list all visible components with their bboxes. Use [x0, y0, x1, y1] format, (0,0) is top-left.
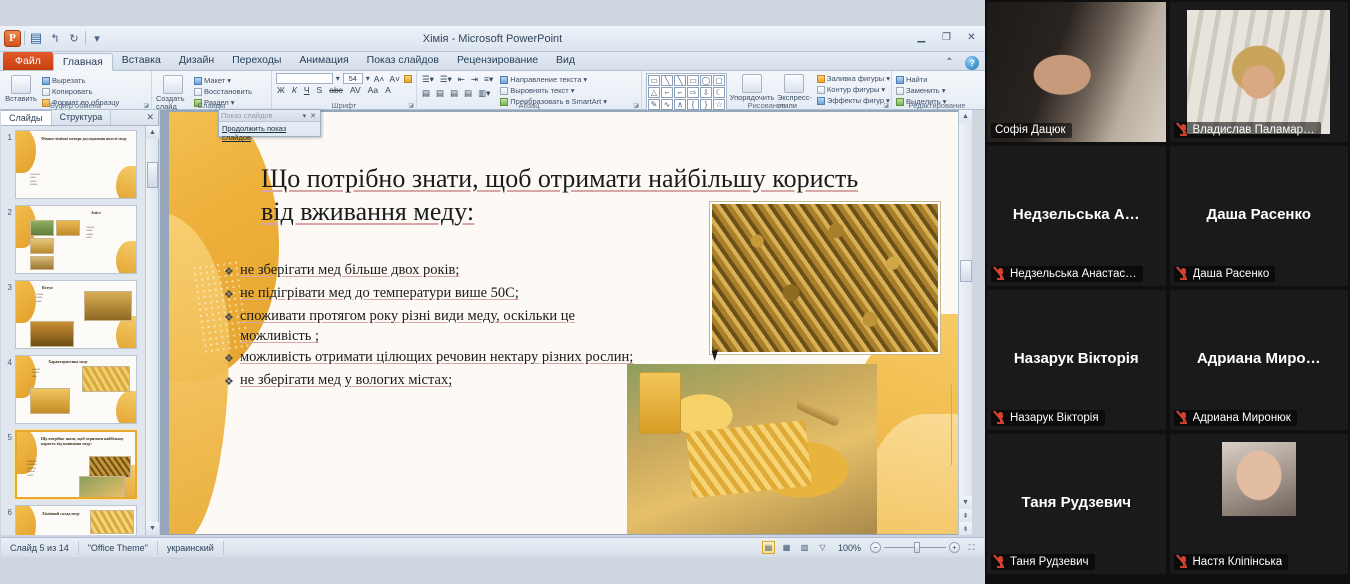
- shape-outline-label: Контур фигуры: [827, 85, 879, 94]
- list-item[interactable]: ❖ споживати протягом року різні види мед…: [224, 306, 644, 346]
- layout-button[interactable]: Макет▾: [194, 76, 252, 85]
- slide-counter[interactable]: Слайд 5 из 14: [1, 541, 79, 555]
- thumbnail-image: [89, 456, 131, 478]
- zoom-track[interactable]: [884, 547, 946, 548]
- participant-tile[interactable]: Недзельська А… Недзельська Анастас…: [987, 146, 1166, 286]
- tab-view[interactable]: Вид: [547, 52, 584, 70]
- cut-button[interactable]: Вырезать: [42, 76, 119, 85]
- shape-outline-icon: [817, 86, 825, 94]
- bullet-marker-icon: ❖: [224, 260, 240, 282]
- participant-name: Владислав Паламар…: [1193, 124, 1315, 136]
- participant-name-bar: Адриана Миронюк: [1174, 410, 1297, 426]
- participant-name-bar: Владислав Паламар…: [1174, 122, 1321, 138]
- slide-thumbnail-item[interactable]: 2 Зміст ••••••••••••••••••••••••••••••: [3, 205, 146, 274]
- bullet-marker-icon: ❖: [224, 306, 240, 328]
- thumbnail-image: [30, 238, 54, 254]
- line-spacing-button[interactable]: ≡▾: [483, 74, 494, 85]
- participant-name: Даша Расенко: [1193, 268, 1270, 280]
- avatar: [1222, 442, 1296, 516]
- copy-icon: [42, 88, 50, 96]
- participant-name-bar: Недзельська Анастас…: [991, 266, 1143, 282]
- scrollbar-thumb[interactable]: [147, 162, 158, 188]
- tab-design[interactable]: Дизайн: [170, 52, 223, 70]
- slide-thumbnail-item[interactable]: 3 Вступ •••••••••••••••••••••: [3, 280, 146, 349]
- align-text-icon: [500, 87, 508, 95]
- shape-fill-button[interactable]: Заливка фигуры▾: [817, 74, 890, 83]
- reset-button[interactable]: Восстановить: [194, 87, 252, 96]
- thumbnail-image: [84, 291, 132, 321]
- minimize-ribbon-icon[interactable]: ⌃: [940, 54, 959, 71]
- shape-arrow-icon[interactable]: ╲: [674, 75, 686, 86]
- group-label-clipboard: Буфер обмена: [0, 101, 151, 110]
- window-controls[interactable]: ▁ ❐ ✕: [912, 29, 981, 46]
- tab-file[interactable]: Файл: [3, 52, 53, 70]
- bullet-text: не зберігати мед більше двох років;: [240, 260, 644, 280]
- participant-video: [987, 2, 1166, 142]
- thumbnail-text: ••••••••••••••••••••••••••••••: [86, 226, 130, 240]
- bold-button[interactable]: Ж: [276, 85, 286, 95]
- thumbnail-image: [90, 510, 134, 534]
- slides-pane-scrollbar[interactable]: ▲ ▼: [145, 126, 158, 535]
- slide-thumbnail-selected[interactable]: Що потрібно знати, щоб отримати найбільш…: [15, 430, 137, 499]
- minimize-icon[interactable]: ▁: [912, 29, 931, 46]
- ribbon-group-slides: Создать слайд Макет▾ Восстановить: [152, 71, 272, 110]
- title-bar: P ▤ ↰ ↻ ▾ Хімія - Microsoft PowerPoint ▁…: [0, 26, 985, 52]
- reset-label: Восстановить: [204, 87, 252, 96]
- muted-microphone-icon: [1178, 411, 1189, 424]
- cut-label: Вырезать: [52, 76, 85, 85]
- theme-name[interactable]: "Office Theme": [79, 541, 158, 555]
- align-text-label: Выровнять текст: [510, 86, 568, 95]
- slide-sorter-icon[interactable]: ▦: [780, 541, 793, 554]
- shape-triangle-icon[interactable]: △: [648, 87, 660, 98]
- align-text-button[interactable]: Выровнять текст▾: [500, 86, 607, 95]
- status-bar-right[interactable]: ▤ ▦ ▧ ▽ 100% − + ⛶: [762, 541, 984, 554]
- participant-display-name: Назарук Вікторія: [987, 350, 1166, 367]
- participant-video: [1187, 10, 1330, 133]
- shape-block-arrow-icon[interactable]: ⇨: [687, 87, 699, 98]
- thumbnail-image: [30, 321, 74, 347]
- tab-home[interactable]: Главная: [53, 53, 113, 71]
- zoom-level-label[interactable]: 100%: [834, 543, 865, 553]
- participant-display-name: Недзельська А…: [987, 206, 1166, 223]
- honeycomb: [686, 420, 812, 498]
- participant-name: Недзельська Анастас…: [1010, 268, 1137, 280]
- list-item[interactable]: ❖ можливість отримати цілющих речовин не…: [224, 347, 644, 369]
- slide-thumbnail[interactable]: Фізико-хімічні методи дослідження якості…: [15, 130, 137, 199]
- bullet-text: можливість отримати цілющих речовин нект…: [240, 347, 644, 367]
- participant-tile[interactable]: Настя Кліпінська: [1170, 434, 1349, 574]
- shape-rounded-rect-icon[interactable]: ▢: [713, 75, 725, 86]
- thumbnail-image: [30, 388, 70, 414]
- layout-label: Макет: [204, 76, 225, 85]
- new-slide-icon: [163, 75, 183, 94]
- align-center-button[interactable]: ▤: [435, 88, 445, 99]
- align-left-button[interactable]: ▤: [421, 88, 431, 99]
- zoom-handle[interactable]: [914, 542, 920, 553]
- float-toolbar-header[interactable]: Показ слайдов ▾ ✕: [219, 110, 320, 122]
- font-name-dropdown-icon[interactable]: ▾: [336, 74, 340, 83]
- list-item[interactable]: ❖ не зберігати мед більше двох років;: [224, 260, 644, 282]
- ribbon-group-paragraph: ☰▾ ☰▾ ⇤ ⇥ ≡▾ ▤ ▤ ▤ ▤ ▥▾: [417, 71, 642, 110]
- thumbnail-image: [30, 220, 54, 236]
- align-right-button[interactable]: ▤: [449, 88, 459, 99]
- paste-icon: [11, 75, 31, 94]
- reading-view-icon[interactable]: ▧: [798, 541, 811, 554]
- help-icon[interactable]: ?: [965, 56, 979, 70]
- columns-button[interactable]: ▥▾: [477, 88, 491, 99]
- slide-number: 6: [3, 505, 15, 517]
- participant-name-bar: Даша Расенко: [1174, 266, 1276, 282]
- group-label-editing: Редактирование: [892, 101, 982, 110]
- scroll-up-icon[interactable]: ▲: [146, 126, 159, 139]
- honey-jar-and-honeycomb-photo[interactable]: [627, 364, 877, 534]
- shape-outline-button[interactable]: Контур фигуры▾: [817, 85, 890, 94]
- thumbnail-text: ••••••••••••••••••••••: [32, 368, 74, 378]
- font-size-input[interactable]: 54: [343, 73, 363, 84]
- restore-icon[interactable]: ❐: [937, 29, 956, 46]
- participant-tile[interactable]: Софія Дацюк: [987, 2, 1166, 142]
- scrollbar-thumb[interactable]: [960, 260, 972, 282]
- bullet-text: споживати протягом року різні види меду,…: [240, 306, 644, 346]
- participant-name: Таня Рудзевич: [1010, 556, 1089, 568]
- group-label-drawing: Рисование: [642, 101, 891, 110]
- pane-splitter-handle[interactable]: [951, 385, 956, 425]
- thumbnail-title: Що потрібно знати, щоб отримати найбільш…: [41, 436, 127, 446]
- slide-editing-area[interactable]: Що потрібно знати, щоб отримати найбільш…: [160, 110, 972, 535]
- previous-slide-icon[interactable]: ⇞: [959, 509, 972, 522]
- replace-button[interactable]: Заменить▾: [896, 86, 978, 95]
- character-spacing-button[interactable]: AV: [349, 85, 362, 95]
- tab-review[interactable]: Рецензирование: [448, 52, 547, 70]
- slide-number: 1: [3, 130, 15, 142]
- bullet-marker-icon: ❖: [224, 283, 240, 305]
- slide-thumbnail[interactable]: Зміст ••••••••••••••••••••••••••••••: [15, 205, 137, 274]
- slide-thumbnail-item[interactable]: 1 Фізико-хімічні методи дослідження якос…: [3, 130, 146, 199]
- shape-elbow2-icon[interactable]: ⌐: [674, 87, 686, 98]
- slide-number: 5: [3, 430, 15, 442]
- participant-tile[interactable]: Таня Рудзевич Таня Рудзевич: [987, 434, 1166, 574]
- reset-icon: [194, 88, 202, 96]
- underline-button[interactable]: Ч: [303, 85, 311, 95]
- participant-name: Софія Дацюк: [995, 124, 1066, 136]
- language-indicator[interactable]: украинский: [158, 541, 224, 555]
- continue-slideshow-button[interactable]: Продолжить показ слайдов: [219, 122, 320, 144]
- current-slide[interactable]: Що потрібно знати, щоб отримати найбільш…: [169, 112, 961, 534]
- bullet-marker-icon: ❖: [224, 347, 240, 369]
- muted-microphone-icon: [1178, 267, 1189, 280]
- font-dialog-launcher[interactable]: ◪: [408, 102, 414, 109]
- ribbon-group-drawing: ▭ ╲ ╲ ▭ ◯ ▢ △ ⌐ ⌐ ⇨ ⇩ ☾ ✎ ∿ ∧: [642, 71, 892, 110]
- slide-thumbnail[interactable]: Характеристика меду ••••••••••••••••••••…: [15, 355, 137, 424]
- increase-font-size-button[interactable]: A˄: [373, 74, 386, 84]
- tab-insert[interactable]: Вставка: [113, 52, 170, 70]
- tab-slides[interactable]: Слайды: [1, 110, 52, 125]
- slide-number: 3: [3, 280, 15, 292]
- thumbnail-image: [79, 476, 125, 498]
- font-name-input[interactable]: [276, 73, 333, 84]
- clipboard-dialog-launcher[interactable]: ◪: [143, 102, 149, 109]
- participant-name: Адриана Миронюк: [1193, 412, 1291, 424]
- status-bar: Слайд 5 из 14 "Office Theme" украинский …: [1, 537, 984, 557]
- muted-microphone-icon: [995, 411, 1006, 424]
- replace-label: Заменить: [906, 86, 940, 95]
- thumbnail-title: Фізико-хімічні методи дослідження якості…: [38, 136, 130, 141]
- thumbnail-title: Характеристика меду: [44, 359, 92, 364]
- scroll-down-icon[interactable]: ▼: [146, 522, 159, 535]
- paragraph-dialog-launcher[interactable]: ◪: [633, 102, 639, 109]
- decoration: [15, 130, 36, 173]
- ribbon: Вставить Вырезать Копировать: [0, 71, 985, 110]
- chevron-down-icon[interactable]: ▾: [301, 112, 309, 120]
- shape-rect-icon[interactable]: ▭: [687, 75, 699, 86]
- participant-tile[interactable]: Назарук Вікторія Назарук Вікторія: [987, 290, 1166, 430]
- close-icon[interactable]: ✕: [308, 112, 318, 120]
- thumbnail-title: Вступ: [42, 285, 82, 290]
- copy-button[interactable]: Копировать: [42, 87, 119, 96]
- clear-formatting-icon[interactable]: [404, 75, 412, 83]
- close-slides-pane-icon[interactable]: ✕: [146, 112, 154, 123]
- slides-pane: Слайды Структура ✕ 1 Фізико-хімічні мето…: [1, 110, 159, 535]
- layout-icon: [194, 77, 202, 85]
- participant-display-name: Адриана Миро…: [1170, 350, 1349, 367]
- participant-name-bar: Таня Рудзевич: [991, 554, 1095, 570]
- shape-down-arrow-icon[interactable]: ⇩: [700, 87, 712, 98]
- scroll-down-icon[interactable]: ▼: [959, 496, 972, 509]
- shape-oval-icon[interactable]: ◯: [700, 75, 712, 86]
- replace-icon: [896, 87, 904, 95]
- honey-jar: [639, 372, 681, 434]
- thumbnail-image: [82, 366, 130, 392]
- next-slide-icon[interactable]: ⇟: [959, 522, 972, 535]
- slide-thumbnail-item[interactable]: 5 Що потрібно знати, щоб отримати найбіл…: [3, 430, 146, 499]
- quick-styles-icon: [784, 74, 804, 93]
- slideshow-icon[interactable]: ▽: [816, 541, 829, 554]
- list-item[interactable]: ❖ не підігрівати мед до температури више…: [224, 283, 644, 305]
- participant-tile[interactable]: Владислав Паламар…: [1170, 2, 1349, 142]
- shape-textbox-icon[interactable]: ▭: [648, 75, 660, 86]
- zoom-slider[interactable]: − +: [870, 542, 960, 553]
- slide-thumbnail[interactable]: Вступ •••••••••••••••••••••: [15, 280, 137, 349]
- italic-button[interactable]: К: [291, 85, 298, 95]
- video-conference-panel: Софія Дацюк Владислав Паламар… Недзельсь…: [985, 0, 1350, 584]
- bullets-button[interactable]: ☰▾: [421, 74, 435, 85]
- decoration: [116, 241, 137, 274]
- slide-vertical-scrollbar[interactable]: ▲ ▼ ⇞ ⇟: [958, 110, 972, 535]
- decoration: [15, 505, 36, 535]
- strikethrough-button[interactable]: abc: [328, 85, 344, 95]
- shape-moon-icon[interactable]: ☾: [713, 87, 725, 98]
- slide-thumbnail-list[interactable]: 1 Фізико-хімічні методи дослідження якос…: [1, 126, 146, 535]
- decrease-indent-button[interactable]: ⇤: [457, 74, 466, 85]
- float-toolbar-title: Показ слайдов: [221, 111, 301, 120]
- search-icon: [896, 76, 904, 84]
- participant-name: Назарук Вікторія: [1010, 412, 1099, 424]
- participant-tile[interactable]: Адриана Миро… Адриана Миронюк: [1170, 290, 1349, 430]
- powerpoint-window: P ▤ ↰ ↻ ▾ Хімія - Microsoft PowerPoint ▁…: [0, 0, 985, 584]
- shadow-button[interactable]: S: [316, 85, 324, 95]
- zoom-out-button[interactable]: −: [870, 542, 881, 553]
- find-label: Найти: [906, 75, 927, 84]
- shape-fill-icon: [817, 75, 825, 83]
- scissors-icon: [42, 77, 50, 85]
- change-case-button[interactable]: Aa: [367, 85, 379, 95]
- decoration: [15, 280, 36, 323]
- ribbon-tabs[interactable]: Файл Главная Вставка Дизайн Переходы Ани…: [0, 52, 985, 71]
- participant-name-bar: Софія Дацюк: [991, 123, 1072, 138]
- participant-name-bar: Назарук Вікторія: [991, 410, 1105, 426]
- screen: P ▤ ↰ ↻ ▾ Хімія - Microsoft PowerPoint ▁…: [0, 0, 1350, 584]
- increase-indent-button[interactable]: ⇥: [470, 74, 479, 85]
- muted-microphone-icon: [1178, 123, 1189, 136]
- thumbnail-text: ••••••••••••••••••••••••••••••••: [30, 173, 86, 187]
- participant-name: Настя Кліпінська: [1193, 556, 1283, 568]
- decoration: [116, 166, 137, 199]
- thumbnail-text: ••••••••••••••••••••••••••••••••••••••••…: [27, 460, 79, 477]
- close-icon[interactable]: ✕: [962, 29, 981, 46]
- decoration: [116, 391, 137, 424]
- scroll-up-icon[interactable]: ▲: [959, 110, 972, 123]
- bullet-text: не зберігати мед у вологих містах;: [240, 370, 644, 390]
- slide-thumbnail-item[interactable]: 4 Характеристика меду ••••••••••••••••••…: [3, 355, 146, 424]
- shape-fill-label: Заливка фигуры: [827, 74, 884, 83]
- shape-elbow-icon[interactable]: ⌐: [661, 87, 673, 98]
- thumbnail-title: Зміст: [66, 210, 126, 215]
- shape-line-icon[interactable]: ╲: [661, 75, 673, 86]
- text-direction-icon: [500, 76, 508, 84]
- bullet-text: не підігрівати мед до температури више 5…: [240, 283, 644, 303]
- tab-transitions[interactable]: Переходы: [223, 52, 290, 70]
- font-size-dropdown-icon[interactable]: ▾: [366, 74, 370, 83]
- participant-display-name: Даша Расенко: [1170, 206, 1349, 223]
- participant-name-bar: Настя Кліпінська: [1174, 554, 1289, 570]
- thumbnail-text: •••••••••••••••••••••: [36, 293, 78, 303]
- ribbon-group-editing: Найти Заменить▾ Выделить▾ Редактирование: [892, 71, 982, 110]
- honeycomb-with-bees-photo[interactable]: [710, 202, 940, 354]
- find-button[interactable]: Найти: [896, 75, 978, 84]
- slide-thumbnail[interactable]: Хімічний склад меду: [15, 505, 137, 535]
- list-item[interactable]: ❖ не зберігати мед у вологих містах;: [224, 370, 644, 392]
- numbering-button[interactable]: ☰▾: [439, 74, 453, 85]
- ribbon-group-clipboard: Вставить Вырезать Копировать: [0, 71, 152, 110]
- bullet-marker-icon: ❖: [224, 370, 240, 392]
- zoom-in-button[interactable]: +: [949, 542, 960, 553]
- muted-microphone-icon: [995, 555, 1006, 568]
- group-label-paragraph: Абзац: [417, 101, 641, 110]
- ribbon-group-font: ▾ 54 ▾ A˄ A˅ Ж К Ч S abc AV Aa A Ш: [272, 71, 417, 110]
- copy-label: Копировать: [52, 87, 92, 96]
- text-direction-label: Направление текста: [510, 75, 581, 84]
- font-color-button[interactable]: A: [384, 85, 392, 95]
- slide-number: 4: [3, 355, 15, 367]
- muted-microphone-icon: [995, 267, 1006, 280]
- normal-view-icon[interactable]: ▤: [762, 541, 775, 554]
- thumbnail-title: Хімічний склад меду: [42, 511, 90, 516]
- slide-number: 2: [3, 205, 15, 217]
- decrease-font-size-button[interactable]: A˅: [388, 74, 401, 84]
- tab-slideshow[interactable]: Показ слайдов: [358, 52, 448, 70]
- slide-thumbnail-item[interactable]: 6 Хімічний склад меду: [3, 505, 146, 535]
- slideshow-float-toolbar[interactable]: Показ слайдов ▾ ✕ Продолжить показ слайд…: [218, 109, 321, 137]
- muted-microphone-icon: [1178, 555, 1189, 568]
- thumbnail-image: [30, 256, 54, 270]
- slides-pane-tabs[interactable]: Слайды Структура ✕: [1, 110, 158, 126]
- drawing-dialog-launcher[interactable]: ◪: [883, 102, 889, 109]
- arrange-icon: [742, 74, 762, 93]
- tab-animations[interactable]: Анимация: [290, 52, 357, 70]
- window-title: Хімія - Microsoft PowerPoint: [0, 26, 985, 52]
- text-direction-button[interactable]: Направление текста▾: [500, 75, 607, 84]
- participant-tile[interactable]: Даша Расенко Даша Расенко: [1170, 146, 1349, 286]
- thumbnail-image: [56, 220, 80, 236]
- slide-bullet-list[interactable]: ❖ не зберігати мед більше двох років; ❖ …: [224, 260, 644, 393]
- participant-display-name: Таня Рудзевич: [987, 494, 1166, 511]
- fit-to-window-icon[interactable]: ⛶: [965, 541, 978, 554]
- ribbon-right-controls[interactable]: ⌃ ?: [940, 54, 979, 71]
- tab-outline[interactable]: Структура: [52, 110, 112, 125]
- justify-button[interactable]: ▤: [463, 88, 473, 99]
